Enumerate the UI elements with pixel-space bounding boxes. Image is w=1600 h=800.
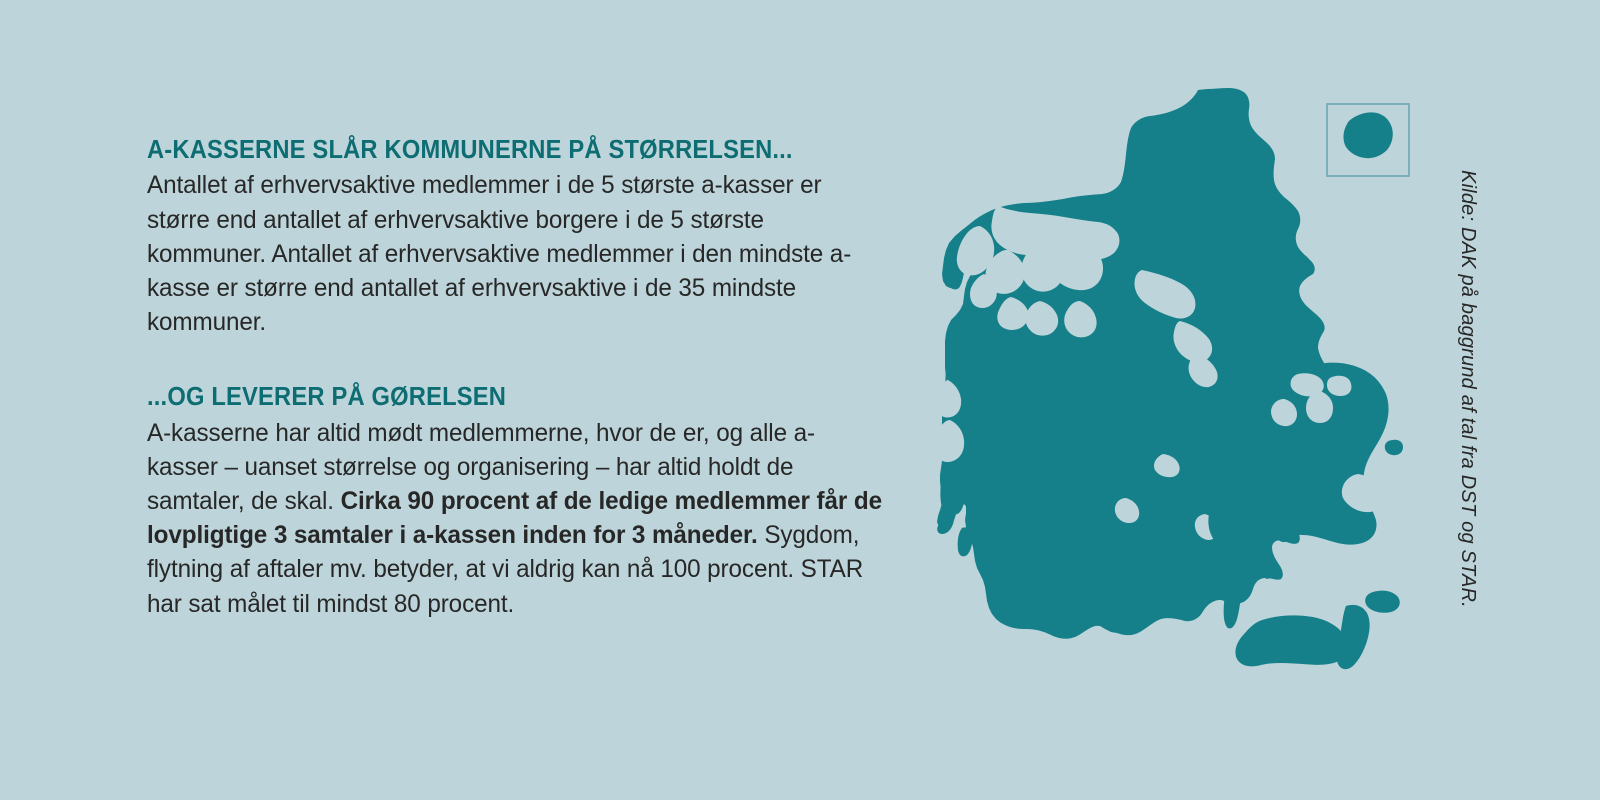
map-region-falster [1337,605,1370,669]
map-region-romo [958,527,973,556]
map-region-lolland [1235,615,1348,666]
section-delivery-body: A-kasserne har altid mødt medlemmerne, h… [147,416,884,621]
bornholm-inset [1327,104,1409,176]
infographic-canvas: A-KASSERNE SLÅR KOMMUNERNE PÅ STØRRELSEN… [0,0,1600,800]
map-region-mon [1365,591,1400,613]
map-region-anholt [1288,253,1309,265]
text-column: A-KASSERNE SLÅR KOMMUNERNE PÅ STØRRELSEN… [147,136,907,621]
section-delivery-heading: ...OG LEVERER PÅ GØRELSEN [147,383,854,412]
denmark-map [880,58,1460,738]
section-size-heading: A-KASSERNE SLÅR KOMMUNERNE PÅ STØRRELSEN… [147,136,854,165]
map-region-small-islet-east [1385,440,1403,455]
section-size-body: Antallet af erhvervsaktive medlemmer i d… [147,168,884,339]
section-delivery: ...OG LEVERER PÅ GØRELSEN A-kasserne har… [147,383,907,621]
map-region-bornholm [1343,112,1392,158]
section-size: A-KASSERNE SLÅR KOMMUNERNE PÅ STØRRELSEN… [147,136,907,339]
source-credit: Kilde: DAK på baggrund af tal fra DST og… [1458,170,1478,640]
